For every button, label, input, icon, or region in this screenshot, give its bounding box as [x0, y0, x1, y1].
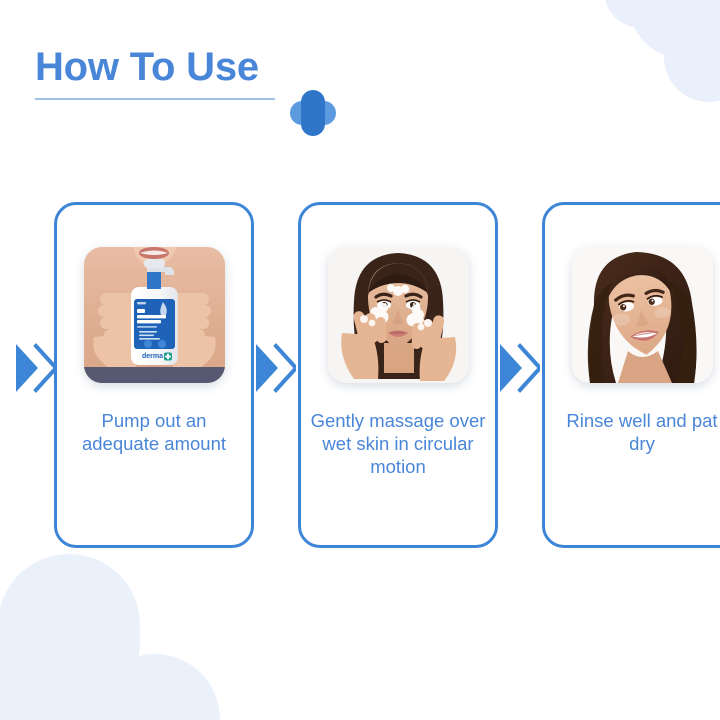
step-1-image: derma: [84, 247, 225, 383]
blob-circle: [0, 554, 140, 712]
blob-circle: [0, 638, 96, 720]
double-chevron-right-icon: [254, 340, 296, 396]
svg-text:derma: derma: [142, 353, 163, 360]
step-1-caption: Pump out an adequate amount: [66, 409, 242, 455]
clover-plus-icon: [290, 90, 336, 136]
clover-vertical-lobe: [301, 90, 325, 136]
double-chevron-right-icon: [14, 340, 56, 396]
bottom-left-blob: [0, 554, 210, 720]
step-3-caption: Rinse well and pat dry: [554, 409, 720, 455]
step-card-2[interactable]: Gently massage over wet skin in circular…: [298, 202, 498, 548]
blob-circle: [604, 0, 678, 28]
step-2-caption: Gently massage over wet skin in circular…: [310, 409, 486, 478]
step-2-image: [328, 247, 469, 383]
blob-circle: [90, 654, 220, 720]
title-divider: [35, 98, 275, 100]
step-card-1[interactable]: derma Pump out an adequate amount: [54, 202, 254, 548]
page-title: How To Use: [35, 42, 685, 92]
step-card-3[interactable]: Rinse well and pat dry: [542, 202, 720, 548]
step-3-image: [572, 247, 713, 383]
page-header: How To Use: [35, 42, 685, 100]
double-chevron-right-icon: [498, 340, 540, 396]
how-to-use-steps: derma Pump out an adequate amount: [0, 202, 720, 552]
